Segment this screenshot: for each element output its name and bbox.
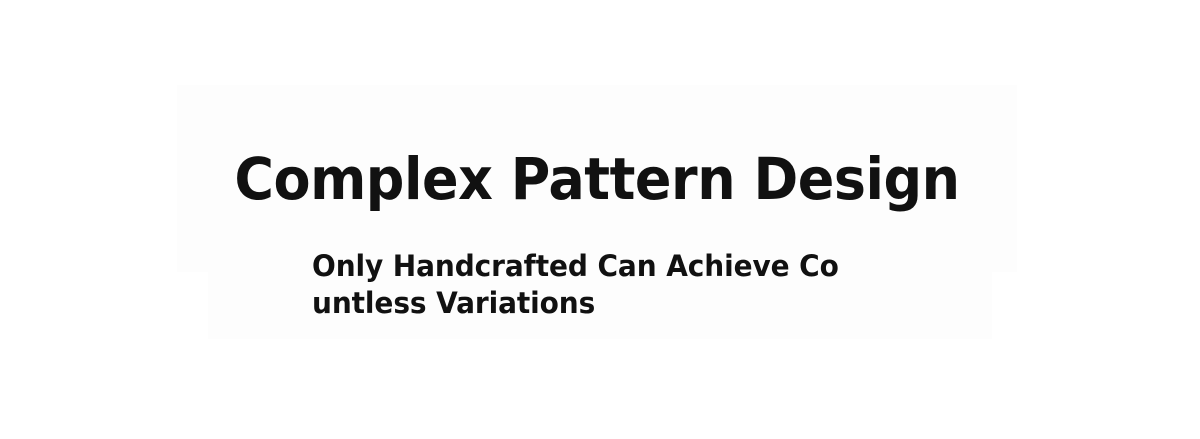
slide-canvas: Complex Pattern Design Only Handcrafted …: [0, 0, 1200, 439]
page-title: Complex Pattern Design: [206, 141, 987, 217]
page-subtitle: Only Handcrafted Can Achieve Countless V…: [312, 248, 849, 322]
